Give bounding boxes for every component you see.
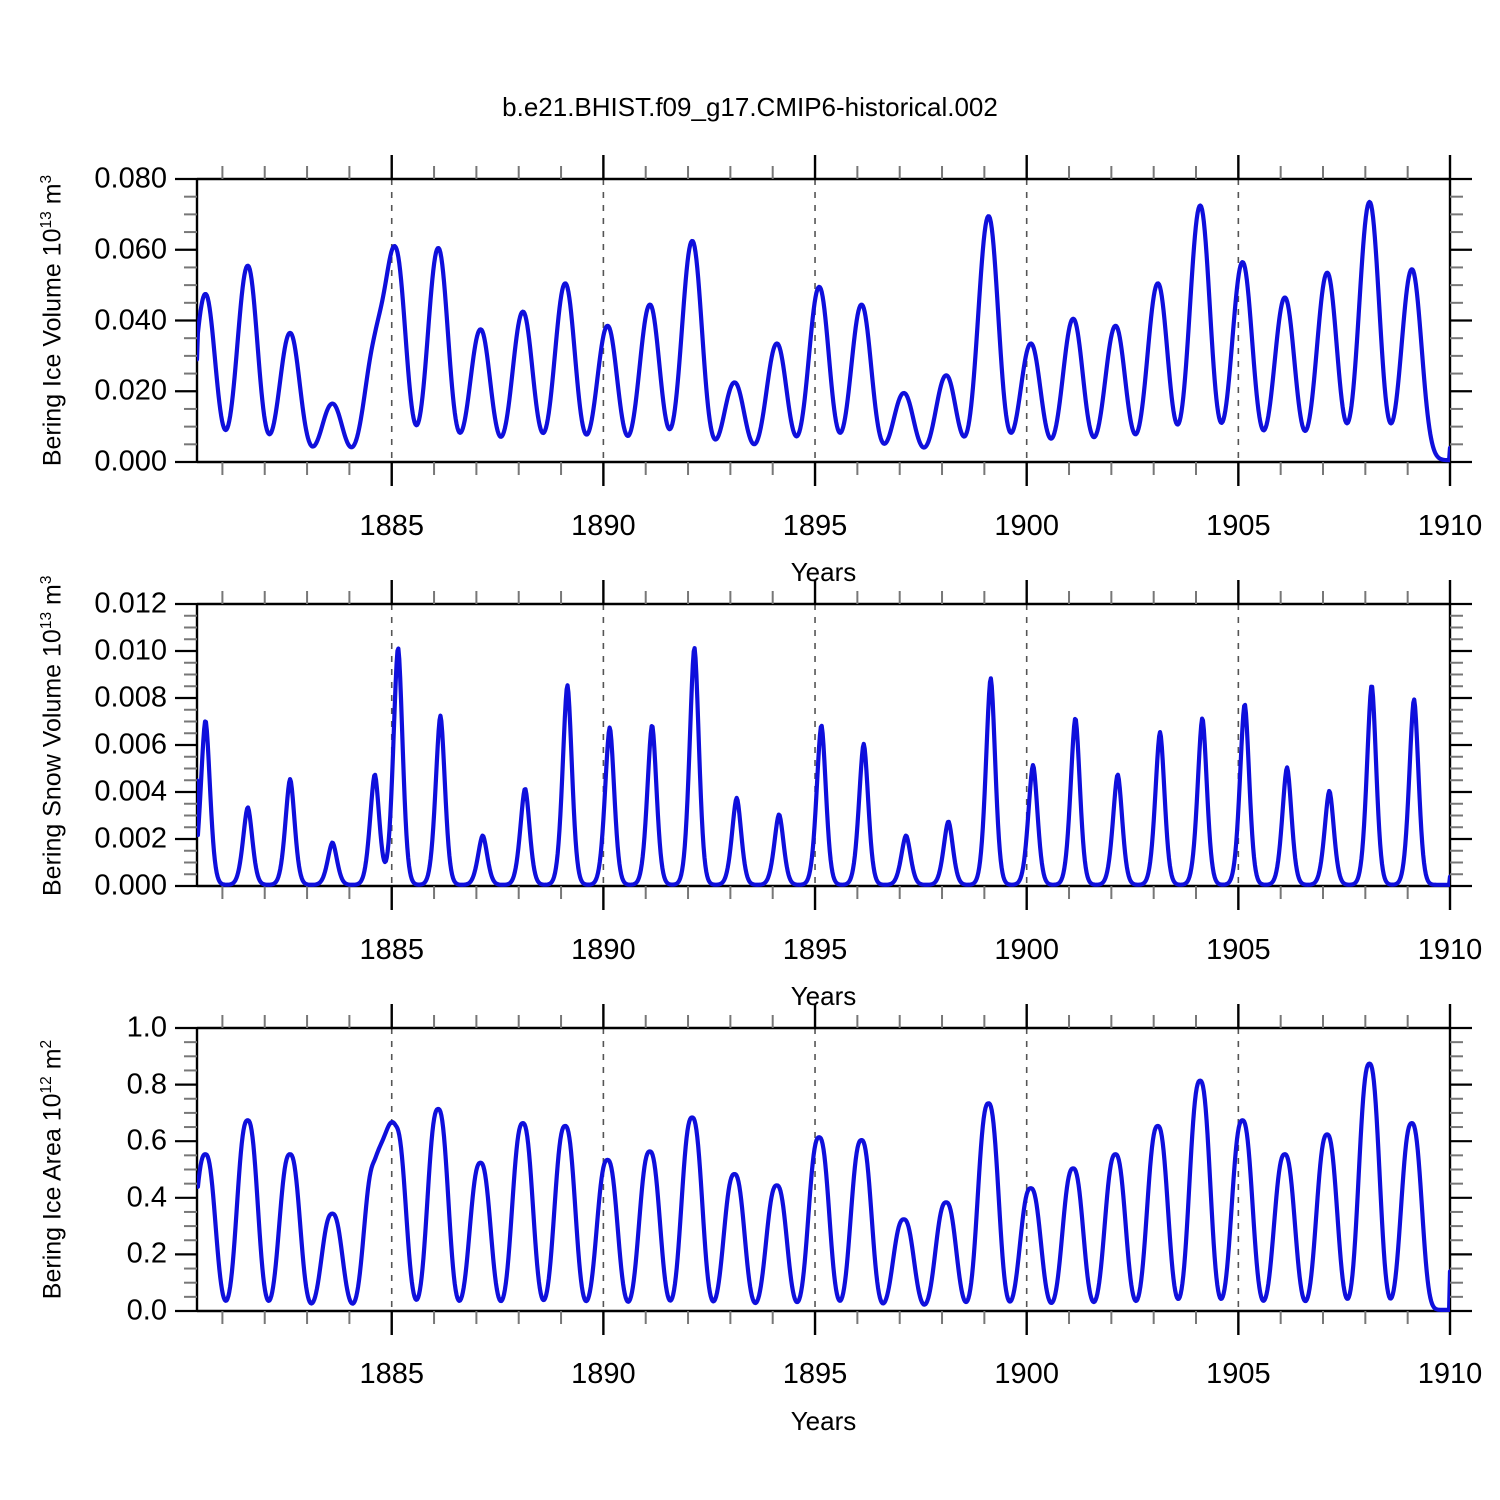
y-axis-title-text: Bering Ice Area 10	[38, 1093, 66, 1299]
data-series-bering-snow-volume	[197, 648, 1450, 885]
xtick-label: 1900	[994, 510, 1059, 543]
xtick-label: 1895	[783, 934, 848, 967]
ytick-label: 0.2	[0, 1238, 167, 1271]
plot-area-bering-ice-area	[0, 0, 1500, 1500]
y-axis-unit-exponent: 2	[38, 1040, 55, 1049]
ytick-label: 0.080	[0, 163, 167, 196]
ytick-label: 0.002	[0, 823, 167, 856]
ytick-label: 0.8	[0, 1068, 167, 1101]
ytick-label: 0.020	[0, 375, 167, 408]
ytick-label: 0.006	[0, 729, 167, 762]
plot-area-bering-snow-volume	[0, 0, 1500, 1500]
ytick-label: 0.000	[0, 446, 167, 479]
data-series-bering-ice-area	[197, 1064, 1450, 1310]
xtick-label: 1890	[571, 934, 636, 967]
xtick-label: 1895	[783, 510, 848, 543]
y-axis-unit: m	[38, 584, 66, 612]
xtick-label: 1895	[783, 1358, 848, 1391]
x-axis-title: Years	[791, 1406, 857, 1437]
ytick-label: 0.000	[0, 870, 167, 903]
y-axis-title-text: Bering Snow Volume 10	[38, 629, 66, 896]
ytick-label: 0.060	[0, 233, 167, 266]
ytick-label: 0.012	[0, 588, 167, 621]
ytick-label: 1.0	[0, 1012, 167, 1045]
xtick-label: 1910	[1418, 934, 1483, 967]
xtick-label: 1890	[571, 510, 636, 543]
xtick-label: 1910	[1418, 510, 1483, 543]
y-axis-unit-exponent: 3	[38, 175, 55, 184]
figure-title: b.e21.BHIST.f09_g17.CMIP6-historical.002	[0, 92, 1500, 123]
xtick-label: 1900	[994, 934, 1059, 967]
y-axis-title: Bering Snow Volume 1013 m3	[38, 594, 67, 896]
xtick-label: 1885	[359, 1358, 424, 1391]
x-axis-title: Years	[791, 557, 857, 588]
plot-area-bering-ice-volume	[0, 0, 1500, 1500]
x-axis-title: Years	[791, 981, 857, 1012]
ytick-label: 0.6	[0, 1125, 167, 1158]
xtick-label: 1905	[1206, 1358, 1271, 1391]
y-axis-exponent: 13	[38, 211, 55, 228]
y-axis-exponent: 13	[38, 612, 55, 629]
y-axis-unit: m	[38, 1048, 66, 1076]
figure-root: b.e21.BHIST.f09_g17.CMIP6-historical.002…	[0, 0, 1500, 1500]
xtick-label: 1905	[1206, 510, 1271, 543]
ytick-label: 0.008	[0, 682, 167, 715]
xtick-label: 1885	[359, 934, 424, 967]
xtick-label: 1900	[994, 1358, 1059, 1391]
y-axis-exponent: 12	[38, 1076, 55, 1093]
xtick-label: 1905	[1206, 934, 1271, 967]
xtick-label: 1885	[359, 510, 424, 543]
ytick-label: 0.0	[0, 1295, 167, 1328]
y-axis-unit-exponent: 3	[38, 576, 55, 585]
y-axis-title-text: Bering Ice Volume 10	[38, 229, 66, 467]
xtick-label: 1910	[1418, 1358, 1483, 1391]
y-axis-title: Bering Ice Volume 1013 m3	[38, 169, 67, 472]
y-axis-title: Bering Ice Area 1012 m2	[38, 1018, 67, 1321]
ytick-label: 0.010	[0, 635, 167, 668]
ytick-label: 0.040	[0, 304, 167, 337]
xtick-label: 1890	[571, 1358, 636, 1391]
ytick-label: 0.004	[0, 776, 167, 809]
y-axis-unit: m	[38, 183, 66, 211]
ytick-label: 0.4	[0, 1181, 167, 1214]
data-series-bering-ice-volume	[197, 202, 1450, 460]
